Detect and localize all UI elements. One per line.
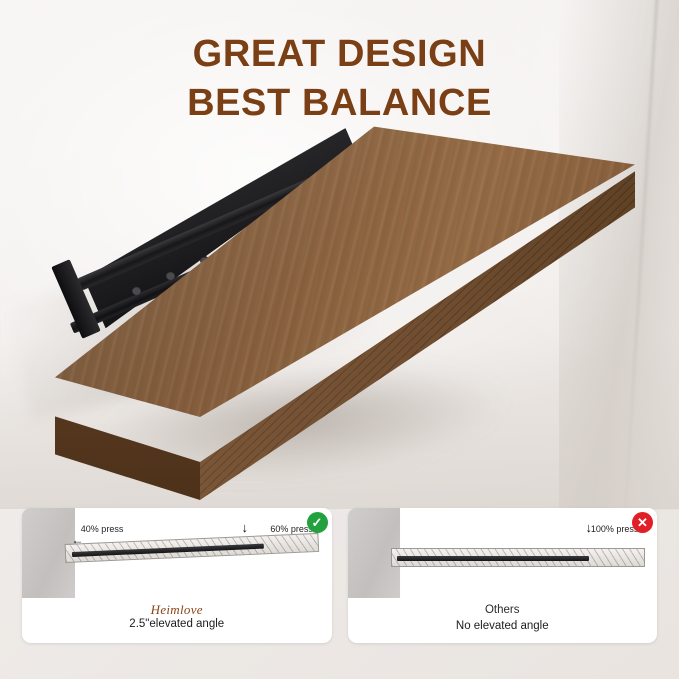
panel-diagram-heimlove: ← 40% press ↓ 60% press [22,508,332,598]
status-badge-check: ✓ [307,512,328,533]
status-badge-cross: ✕ [632,512,653,533]
shelf-assembly [0,110,679,510]
comparison-panels: ← 40% press ↓ 60% press ✓ Heimlove 2.5"e… [22,508,657,643]
arrow-down-icon: ↓ [241,521,248,534]
panel-caption-heimlove: Heimlove 2.5"elevated angle [22,598,332,640]
wood-shelf [55,120,635,500]
panel-diagram-others: ↓ 100% press [348,508,658,598]
brand-name: Heimlove [26,603,328,617]
arrow-left-icon: ← [72,534,84,546]
diagram-bracket-rod [397,556,589,561]
panel-others: ↓ 100% press ✕ Others No elevated angle [348,508,658,643]
panel-caption-text: No elevated angle [352,619,654,635]
product-image: GREAT DESIGN BEST BALANCE [0,0,679,679]
label-press-left: 40% press [81,524,124,534]
brand-name: Others [352,603,654,619]
headline-line-1: GREAT DESIGN [193,33,487,75]
panel-heimlove: ← 40% press ↓ 60% press ✓ Heimlove 2.5"e… [22,508,332,643]
panel-caption-text: 2.5"elevated angle [26,617,328,633]
label-press-right: 100% press [591,524,639,534]
panel-caption-others: Others No elevated angle [348,598,658,641]
